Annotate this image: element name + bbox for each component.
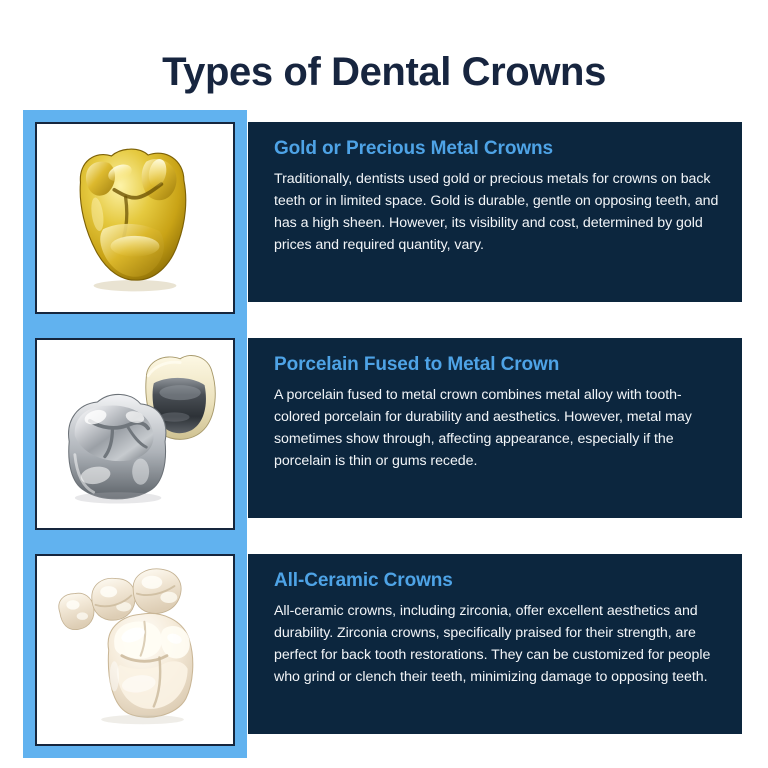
section-body-text: All-ceramic crowns, including zirconia, … <box>274 600 720 688</box>
image-frame-gold <box>23 110 247 326</box>
section-all-ceramic-crowns: All-Ceramic Crowns All-ceramic crowns, i… <box>0 542 768 758</box>
section-heading: All-Ceramic Crowns <box>274 570 720 593</box>
section-heading: Gold or Precious Metal Crowns <box>274 138 720 161</box>
image-frame-inner <box>35 338 235 530</box>
image-frame-inner <box>35 554 235 746</box>
image-frame-pfm <box>23 326 247 542</box>
text-panel: Porcelain Fused to Metal Crown A porcela… <box>248 338 742 518</box>
text-panel: Gold or Precious Metal Crowns Traditiona… <box>248 122 742 302</box>
section-gold-crowns: Gold or Precious Metal Crowns Traditiona… <box>0 110 768 326</box>
section-porcelain-fused-metal: Porcelain Fused to Metal Crown A porcela… <box>0 326 768 542</box>
section-heading: Porcelain Fused to Metal Crown <box>274 354 720 377</box>
section-body-text: Traditionally, dentists used gold or pre… <box>274 168 720 256</box>
section-body-text: A porcelain fused to metal crown combine… <box>274 384 720 472</box>
gold-crown-icon <box>37 124 233 312</box>
image-frame-inner <box>35 122 235 314</box>
text-panel: All-Ceramic Crowns All-ceramic crowns, i… <box>248 554 742 734</box>
porcelain-fused-metal-crown-icon <box>37 340 233 528</box>
page-title: Types of Dental Crowns <box>0 49 768 95</box>
image-frame-ceramic <box>23 542 247 758</box>
all-ceramic-crown-icon <box>37 556 233 744</box>
